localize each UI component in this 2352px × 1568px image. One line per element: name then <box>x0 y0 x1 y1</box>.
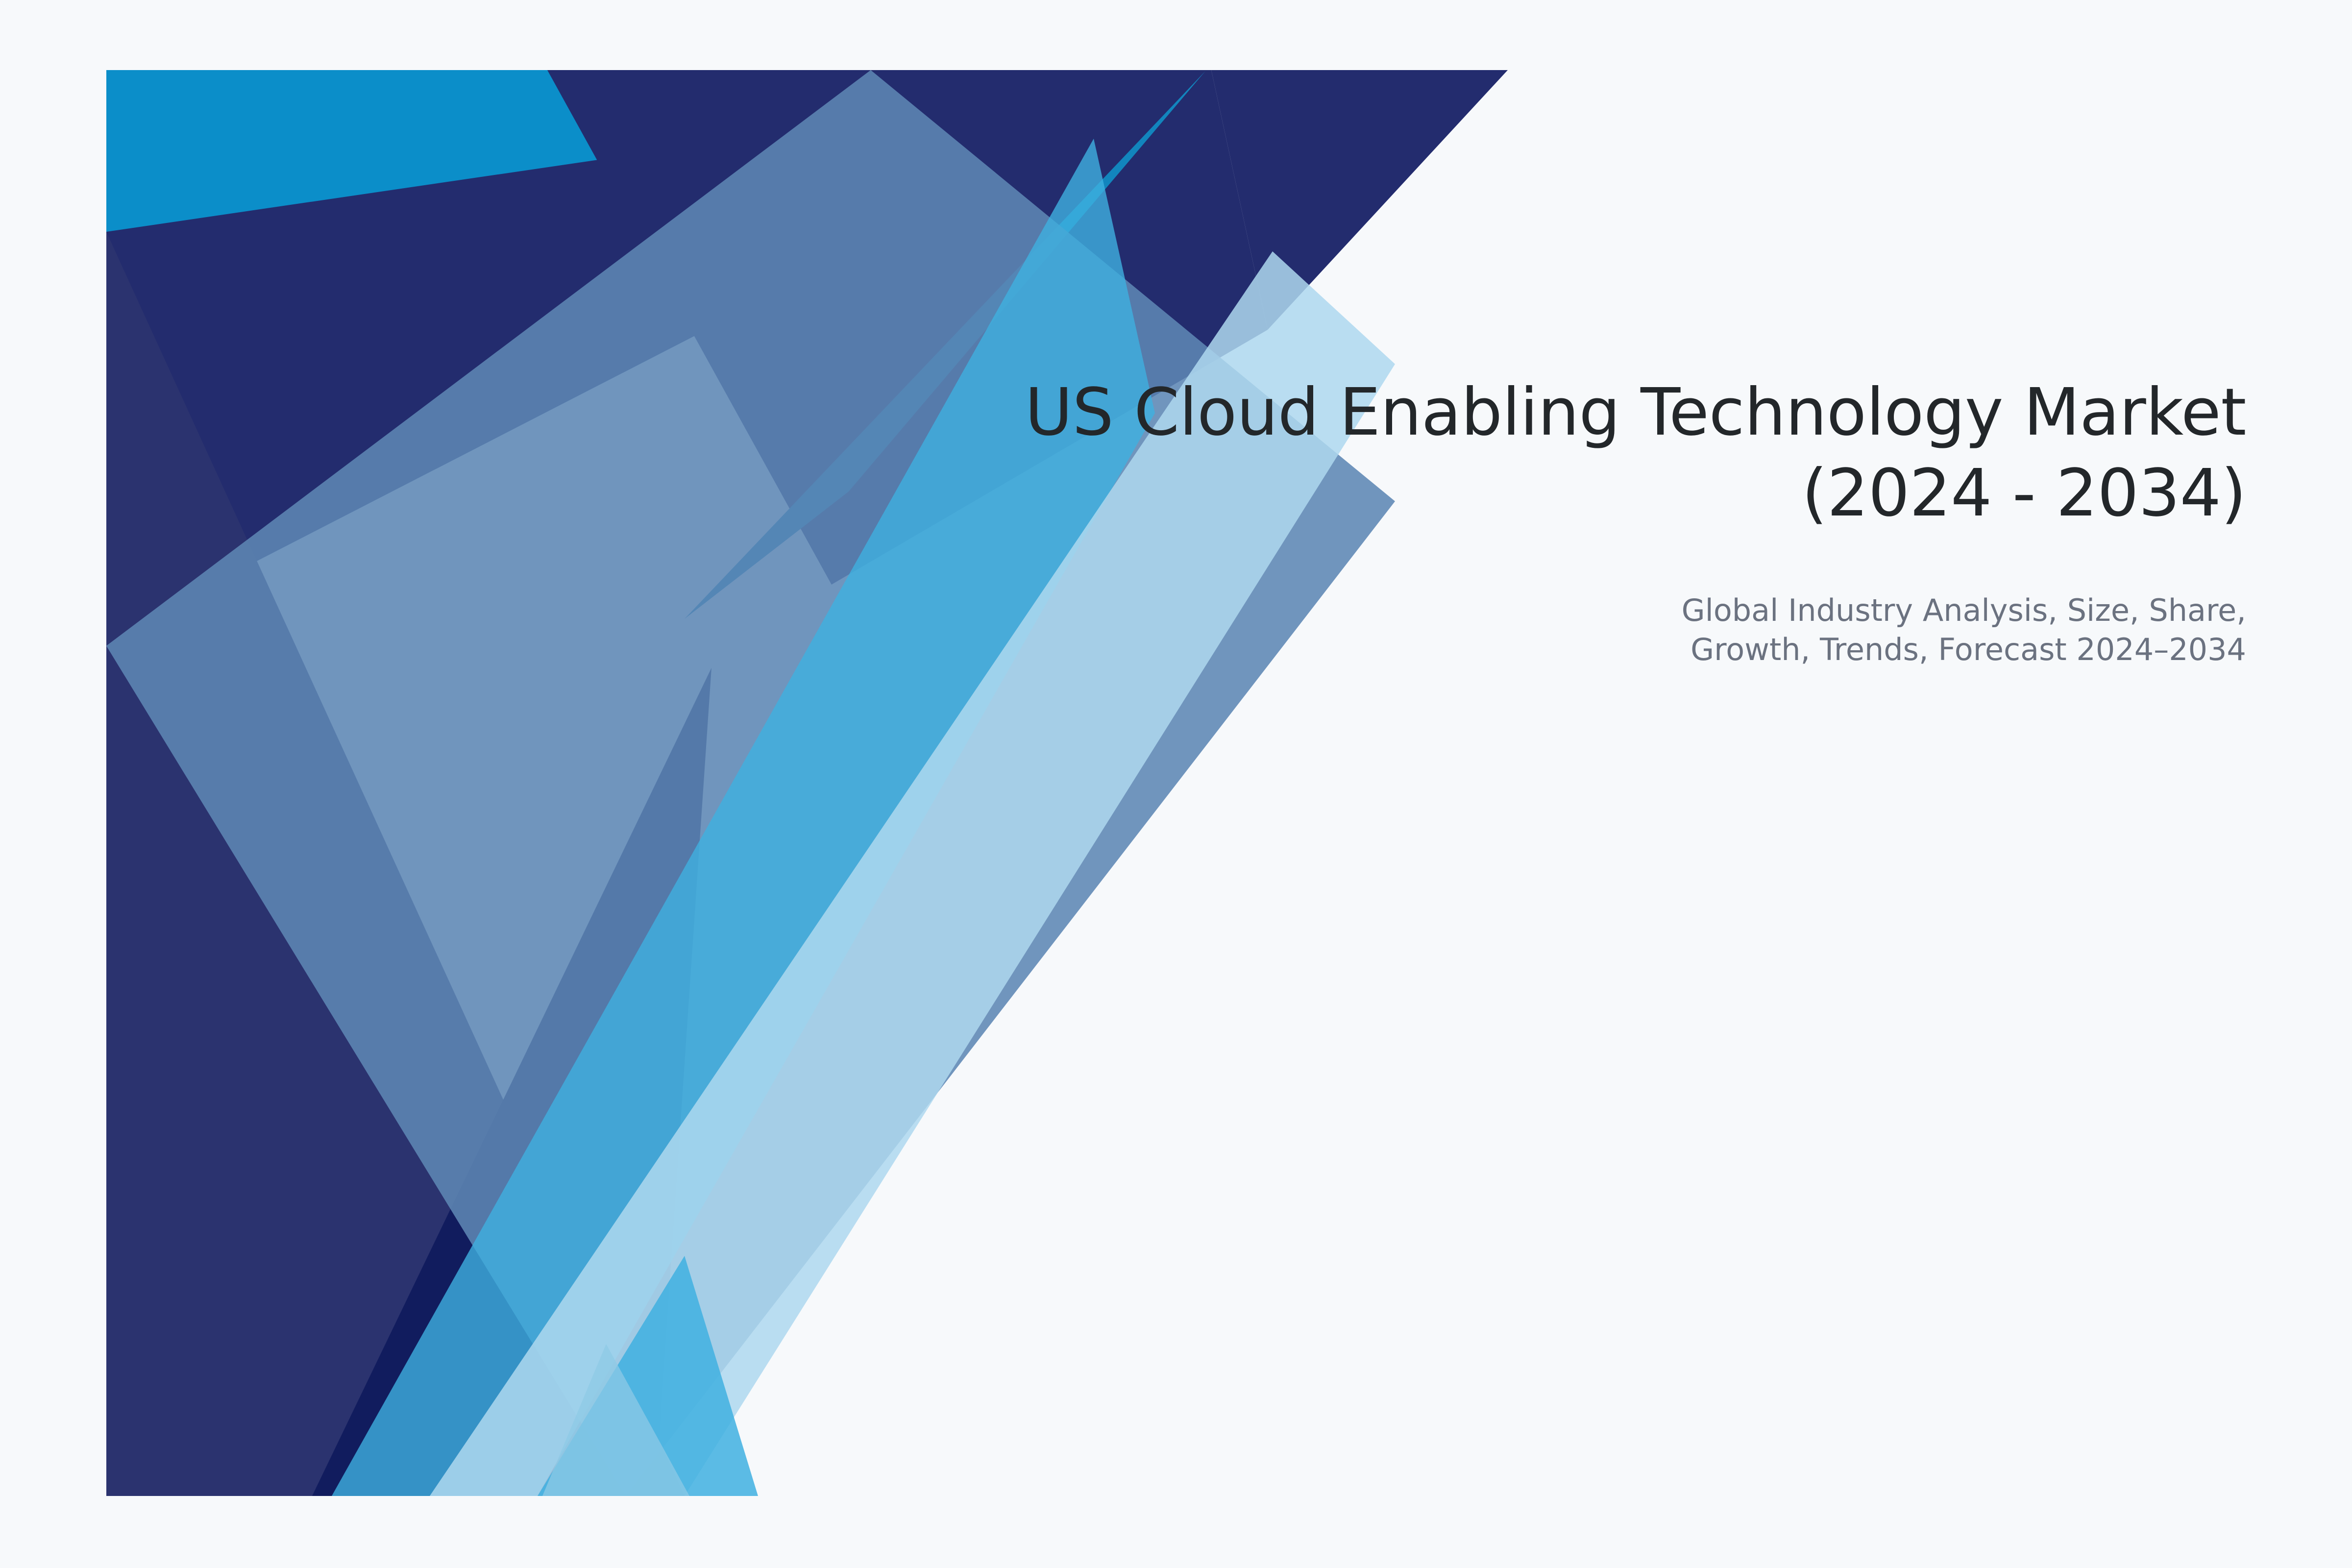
geometric-artwork-svg <box>106 70 1508 1496</box>
title-line-years: (2024 - 2034) <box>833 453 2246 534</box>
page-title: US Cloud Enabling Technology Market (202… <box>833 372 2246 534</box>
title-years-text: (2024 - 2034) <box>1802 456 2246 531</box>
cover-text-block: US Cloud Enabling Technology Market (202… <box>833 372 2246 670</box>
report-cover-page: US Cloud Enabling Technology Market (202… <box>0 0 2352 1568</box>
cover-artwork <box>106 70 1508 1496</box>
title-line-primary: US Cloud Enabling Technology Market <box>833 372 2246 453</box>
page-subtitle: Global Industry Analysis, Size, Share, G… <box>833 591 2246 670</box>
